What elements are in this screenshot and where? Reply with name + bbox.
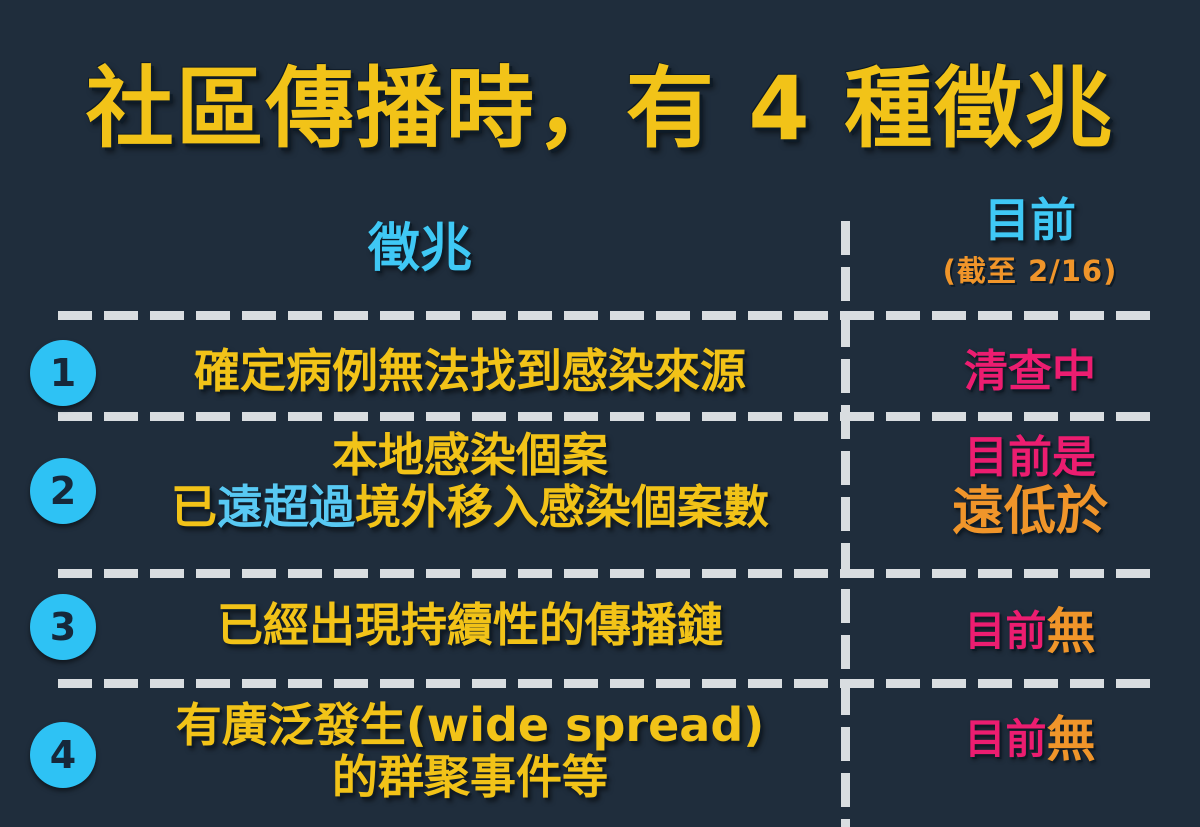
sign-segment: 已 xyxy=(171,480,217,534)
row-status-text: 清查中 xyxy=(870,348,1190,396)
sign-line: 有廣泛發生(wide spread) xyxy=(110,700,830,752)
row-sign-text: 本地感染個案 已遠超過境外移入感染個案數 xyxy=(110,430,830,534)
divider-row-2 xyxy=(58,569,1154,578)
row-sign-text: 有廣泛發生(wide spread) 的群聚事件等 xyxy=(110,700,830,804)
sign-segment: 境外移入感染個案數 xyxy=(355,480,769,534)
column-header-current: 目前 (截至 2/16) xyxy=(880,196,1180,290)
row-status-text: 目前無 xyxy=(870,714,1190,767)
row-status-text: 目前是 遠低於 xyxy=(870,434,1190,540)
status-segment: 清查中 xyxy=(964,346,1096,397)
divider-row-1 xyxy=(58,412,1154,421)
row-number-badge: 3 xyxy=(30,594,96,660)
row-sign-text: 確定病例無法找到感染來源 xyxy=(110,346,830,398)
sign-segment: 有廣泛發生(wide spread) xyxy=(176,698,765,752)
row-number-badge: 1 xyxy=(30,340,96,406)
row-number-badge: 2 xyxy=(30,458,96,524)
column-header-as-of-date: (截至 2/16) xyxy=(880,248,1180,290)
sign-line: 本地感染個案 xyxy=(110,430,830,482)
sign-segment: 確定病例無法找到感染來源 xyxy=(194,344,746,398)
status-segment-emphasis: 無 xyxy=(1046,711,1095,768)
sign-segment-highlight: 遠超過 xyxy=(217,480,355,534)
row-sign-text: 已經出現持續性的傳播鏈 xyxy=(110,600,830,652)
row-status-text: 目前無 xyxy=(870,606,1190,659)
status-segment: 目前是 xyxy=(964,432,1096,483)
page-title: 社區傳播時，有 4 種徵兆 xyxy=(0,38,1200,165)
divider-top xyxy=(58,311,1154,320)
status-segment: 目前 xyxy=(964,715,1046,763)
sign-line: 已遠超過境外移入感染個案數 xyxy=(110,482,830,534)
status-segment: 目前 xyxy=(964,607,1046,655)
infographic-poster: 社區傳播時，有 4 種徵兆 徵兆 目前 (截至 2/16) 1 確定病例無法找到… xyxy=(0,0,1200,827)
status-segment-emphasis: 遠低於 xyxy=(870,484,1190,540)
sign-segment: 已經出現持續性的傳播鏈 xyxy=(217,598,723,652)
divider-row-3 xyxy=(58,679,1154,688)
sign-line: 的群聚事件等 xyxy=(110,752,830,804)
column-header-current-label: 目前 xyxy=(880,196,1180,244)
row-number-badge: 4 xyxy=(30,722,96,788)
column-header-signs: 徵兆 xyxy=(180,206,660,281)
sign-segment: 的群聚事件等 xyxy=(332,750,608,804)
status-segment-emphasis: 無 xyxy=(1046,603,1095,660)
divider-vertical xyxy=(841,221,850,827)
sign-segment: 本地感染個案 xyxy=(332,428,608,482)
